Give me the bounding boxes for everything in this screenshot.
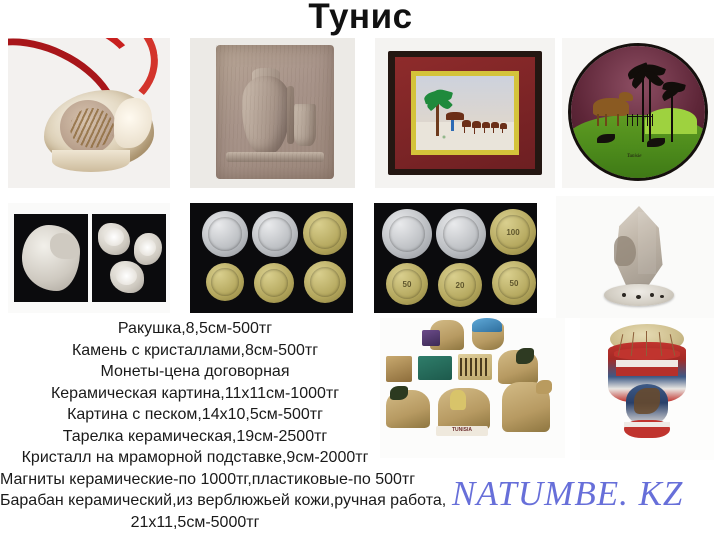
ceramic-relief-photo[interactable] <box>190 38 355 188</box>
poster-page: Тунис <box>0 0 721 520</box>
ceramic-plate-photo[interactable]: Tunisie <box>562 38 714 188</box>
coin-value-3: 100 <box>496 215 529 248</box>
plate-signature: Tunisie <box>627 154 641 159</box>
sand-painting-image <box>375 38 555 188</box>
pricelist-line-9: Барабан керамический,из верблюжьей кожи,… <box>0 490 390 512</box>
crystal-stones-image <box>8 203 170 313</box>
pricelist-line-8: Магниты керамические-по 1000тг,пластиков… <box>0 469 390 491</box>
pricelist-line-5: Картина с песком,14х10,5см-500тг <box>0 404 390 426</box>
coin-value-2 <box>443 216 479 252</box>
ceramic-drum-image <box>580 318 714 460</box>
crystal-on-marble-photo[interactable] <box>556 196 714 318</box>
site-watermark: NATUMBE. KZ <box>452 474 683 514</box>
coin-value-1 <box>389 216 425 252</box>
coins-obverse-photo[interactable] <box>190 203 353 313</box>
coins-reverse-photo[interactable]: 100 50 20 50 <box>374 203 537 313</box>
pricelist-line-1: Ракушка,8,5см-500тг <box>0 318 390 340</box>
pricelist-line-4: Керамическая картина,11х11см-1000тг <box>0 383 390 405</box>
coins-obverse-image <box>190 203 353 313</box>
crystal-stones-photo[interactable] <box>8 203 170 313</box>
page-title: Тунис <box>0 0 721 36</box>
ceramic-drum-photo[interactable] <box>580 318 714 460</box>
pricelist: Ракушка,8,5см-500тг Камень с кристаллами… <box>0 318 390 533</box>
magnet-tunisia-label: TUNISIA <box>436 427 488 433</box>
ceramic-plate-image: Tunisie <box>562 38 714 188</box>
pricelist-line-6: Тарелка керамическая,19см-2500тг <box>0 426 390 448</box>
shell-pendant-image <box>8 38 170 188</box>
crystal-on-marble-image <box>556 196 714 318</box>
coin-value-6: 50 <box>498 267 530 299</box>
magnets-image: TUNISIA <box>380 318 565 458</box>
pricelist-line-7: Кристалл на мраморной подставке,9см-2000… <box>0 447 390 469</box>
coin-value-4: 50 <box>392 269 422 299</box>
coin-value-5: 20 <box>444 269 476 301</box>
coins-reverse-image: 100 50 20 50 <box>374 203 537 313</box>
ceramic-relief-image <box>190 38 355 188</box>
pricelist-line-2: Камень с кристаллами,8см-500тг <box>0 340 390 362</box>
shell-pendant-photo[interactable] <box>8 38 170 188</box>
pricelist-line-10: 21х11,5см-5000тг <box>0 512 390 533</box>
pricelist-line-3: Монеты-цена договорная <box>0 361 390 383</box>
magnets-photo[interactable]: TUNISIA <box>380 318 565 458</box>
sand-painting-photo[interactable] <box>375 38 555 188</box>
